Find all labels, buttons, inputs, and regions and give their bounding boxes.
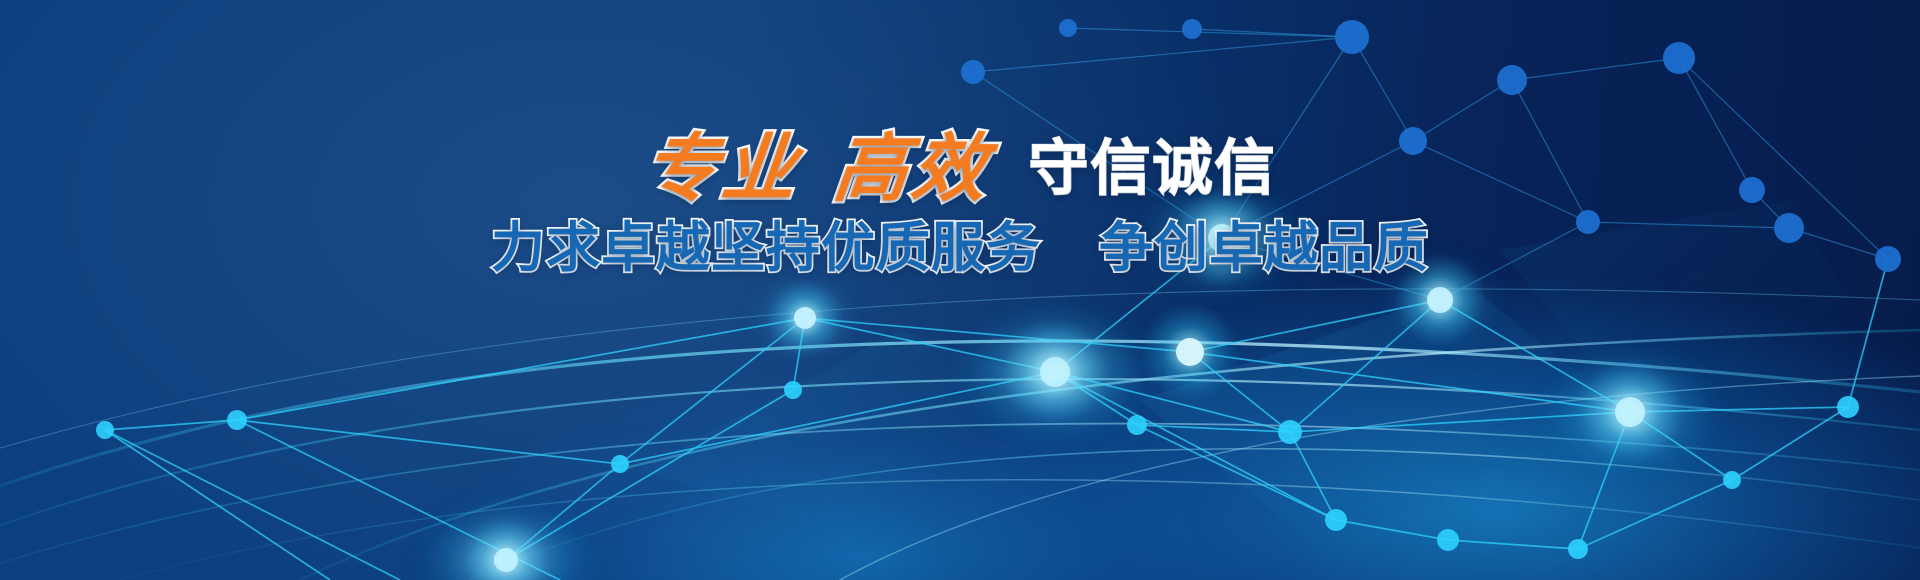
node-b-8 (1837, 396, 1859, 418)
node-r-5 (1399, 127, 1427, 155)
node-r-8 (1739, 177, 1765, 203)
network-edge (1413, 80, 1512, 141)
node-b-4 (1127, 415, 1147, 435)
network-edge (1448, 540, 1578, 549)
node-b-7 (1568, 539, 1588, 559)
node-b-3 (1278, 420, 1302, 444)
network-edge (105, 430, 330, 580)
node-b-6 (1437, 529, 1459, 551)
network-graphic (0, 0, 1920, 580)
node-r-1 (1335, 20, 1369, 54)
node-r-3 (1059, 19, 1077, 37)
network-edge (1679, 58, 1752, 190)
node-b-5 (1325, 509, 1347, 531)
node-r-10 (1576, 210, 1600, 234)
network-edge (1413, 141, 1588, 222)
network-edge (237, 420, 620, 464)
node-tl-2 (227, 410, 247, 430)
network-edge (1352, 37, 1413, 141)
node-b-10 (611, 455, 629, 473)
node-r-11 (1875, 246, 1901, 272)
network-edge (1512, 80, 1588, 222)
node-c-4 (1176, 338, 1204, 366)
node-r-4 (961, 60, 985, 84)
node-r-2 (1182, 19, 1202, 39)
network-edge (1512, 58, 1679, 80)
node-c-2 (784, 381, 802, 399)
node-b-9 (1723, 471, 1741, 489)
network-edge (105, 430, 400, 580)
node-r-9 (1774, 213, 1804, 243)
network-edge (1732, 407, 1848, 480)
node-tl-1 (96, 421, 114, 439)
node-r-6 (1497, 65, 1527, 95)
banner-root: 专业 高效 守信诚信 力求卓越坚持优质服务 争创卓越品质 (0, 0, 1920, 580)
network-edge (237, 318, 805, 420)
node-r-7 (1663, 42, 1695, 74)
network-edge (973, 37, 1352, 72)
